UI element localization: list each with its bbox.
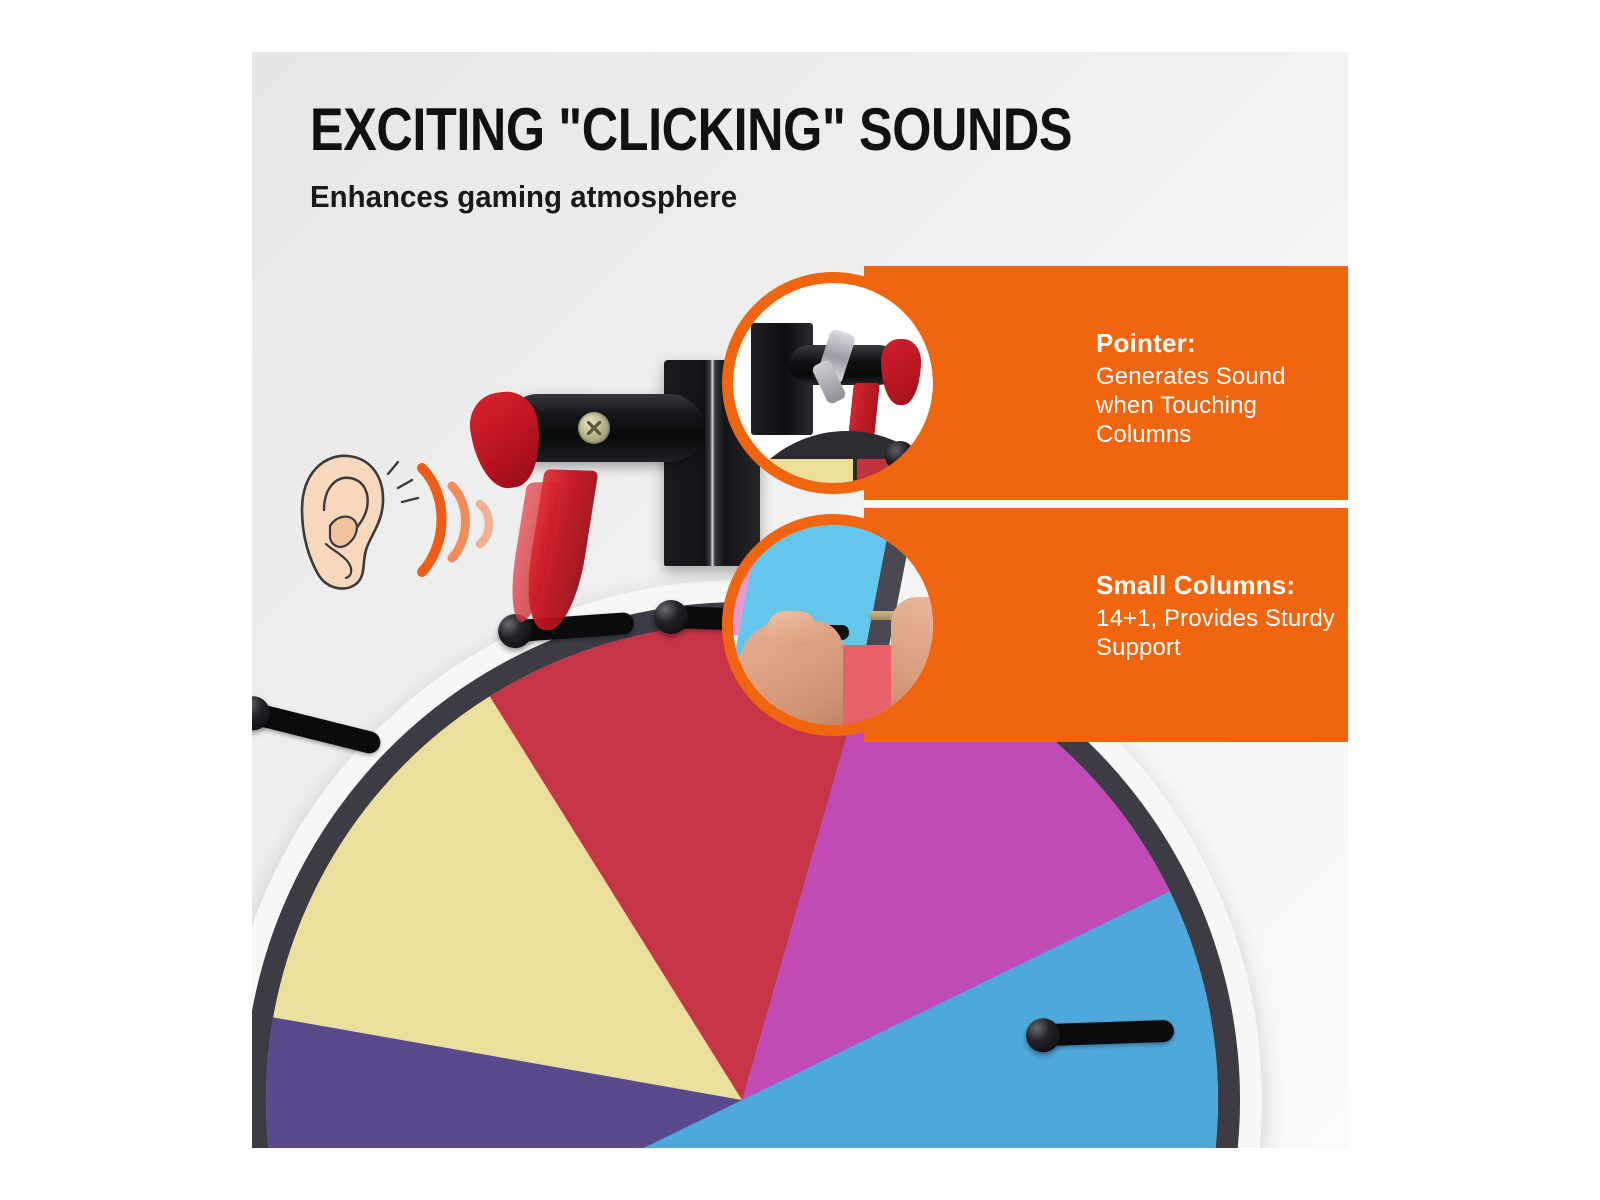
callout-pointer: Pointer: Generates Sound when Touching C… xyxy=(864,266,1348,500)
page-title: EXCITING "CLICKING" SOUNDS xyxy=(310,100,948,160)
callout-title: Small Columns: xyxy=(1096,570,1336,600)
product-feature-image: EXCITING "CLICKING" SOUNDS Enhances gami… xyxy=(0,0,1600,1200)
black-column-peg xyxy=(1042,1020,1175,1047)
silver-screw xyxy=(578,412,610,444)
callout-small-columns: Small Columns: 14+1, Provides Sturdy Sup… xyxy=(864,508,1348,742)
callout-body: Generates Sound when Touching Columns xyxy=(1096,362,1336,449)
callout-title: Pointer: xyxy=(1096,328,1336,358)
columns-closeup-photo xyxy=(722,514,944,736)
callout-divider xyxy=(864,500,1348,508)
headline-block: EXCITING "CLICKING" SOUNDS Enhances gami… xyxy=(310,100,1070,214)
page-subtitle: Enhances gaming atmosphere xyxy=(310,180,1032,214)
pointer-closeup-photo xyxy=(722,272,944,494)
callout-body: 14+1, Provides Sturdy Support xyxy=(1096,604,1336,662)
motion-lines xyxy=(388,462,418,502)
content-panel: EXCITING "CLICKING" SOUNDS Enhances gami… xyxy=(252,52,1348,1148)
